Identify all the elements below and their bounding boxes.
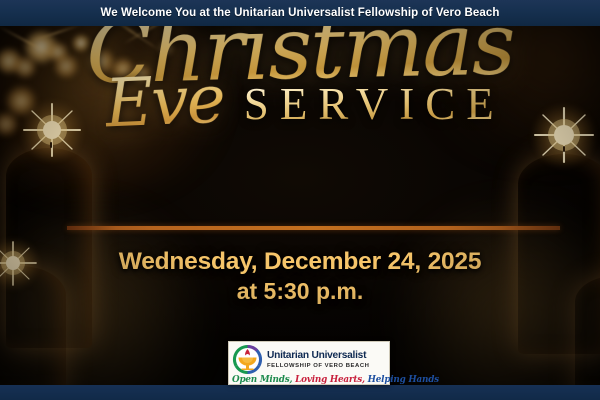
footer-navy-strip [0,385,600,400]
title-service: SERVICE [238,82,505,127]
logo-tagline-part-3: Helping Hands [365,375,439,385]
poster-title-block: Christmas Eve SERVICE [0,10,600,133]
welcome-header-bar: We Welcome You at the Unitarian Universa… [0,0,600,26]
logo-org-subtitle: FELLOWSHIP OF VERO BEACH [267,363,369,369]
candle-left-back-wick [50,142,52,148]
logo-tagline: Open Minds, Loving Hearts, Helping Hands [232,375,386,386]
logo-wordmark: Unitarian Universalist FELLOWSHIP OF VER… [267,350,369,369]
event-datetime-block: Wednesday, December 24, 2025 at 5:30 p.m… [0,248,600,306]
flaming-chalice-icon [232,344,263,375]
logo-top-row: Unitarian Universalist FELLOWSHIP OF VER… [232,344,386,375]
event-date-text: Wednesday, December 24, 2025 [0,248,600,277]
title-eve: Eve [104,67,225,138]
candle-right-back-wick [563,146,565,152]
welcome-header-title: We Welcome You at the Unitarian Universa… [100,7,499,19]
christmas-eve-service-poster: We Welcome You at the Unitarian Universa… [0,0,600,400]
logo-tagline-part-1: Open Minds, [232,375,292,385]
logo-tagline-part-2: Loving Hearts, [292,375,365,385]
copper-divider-rule [67,226,560,230]
event-time-text: at 5:30 p.m. [0,277,600,306]
uu-fellowship-logo-card: Unitarian Universalist FELLOWSHIP OF VER… [228,341,390,385]
logo-org-name: Unitarian Universalist [267,351,369,362]
